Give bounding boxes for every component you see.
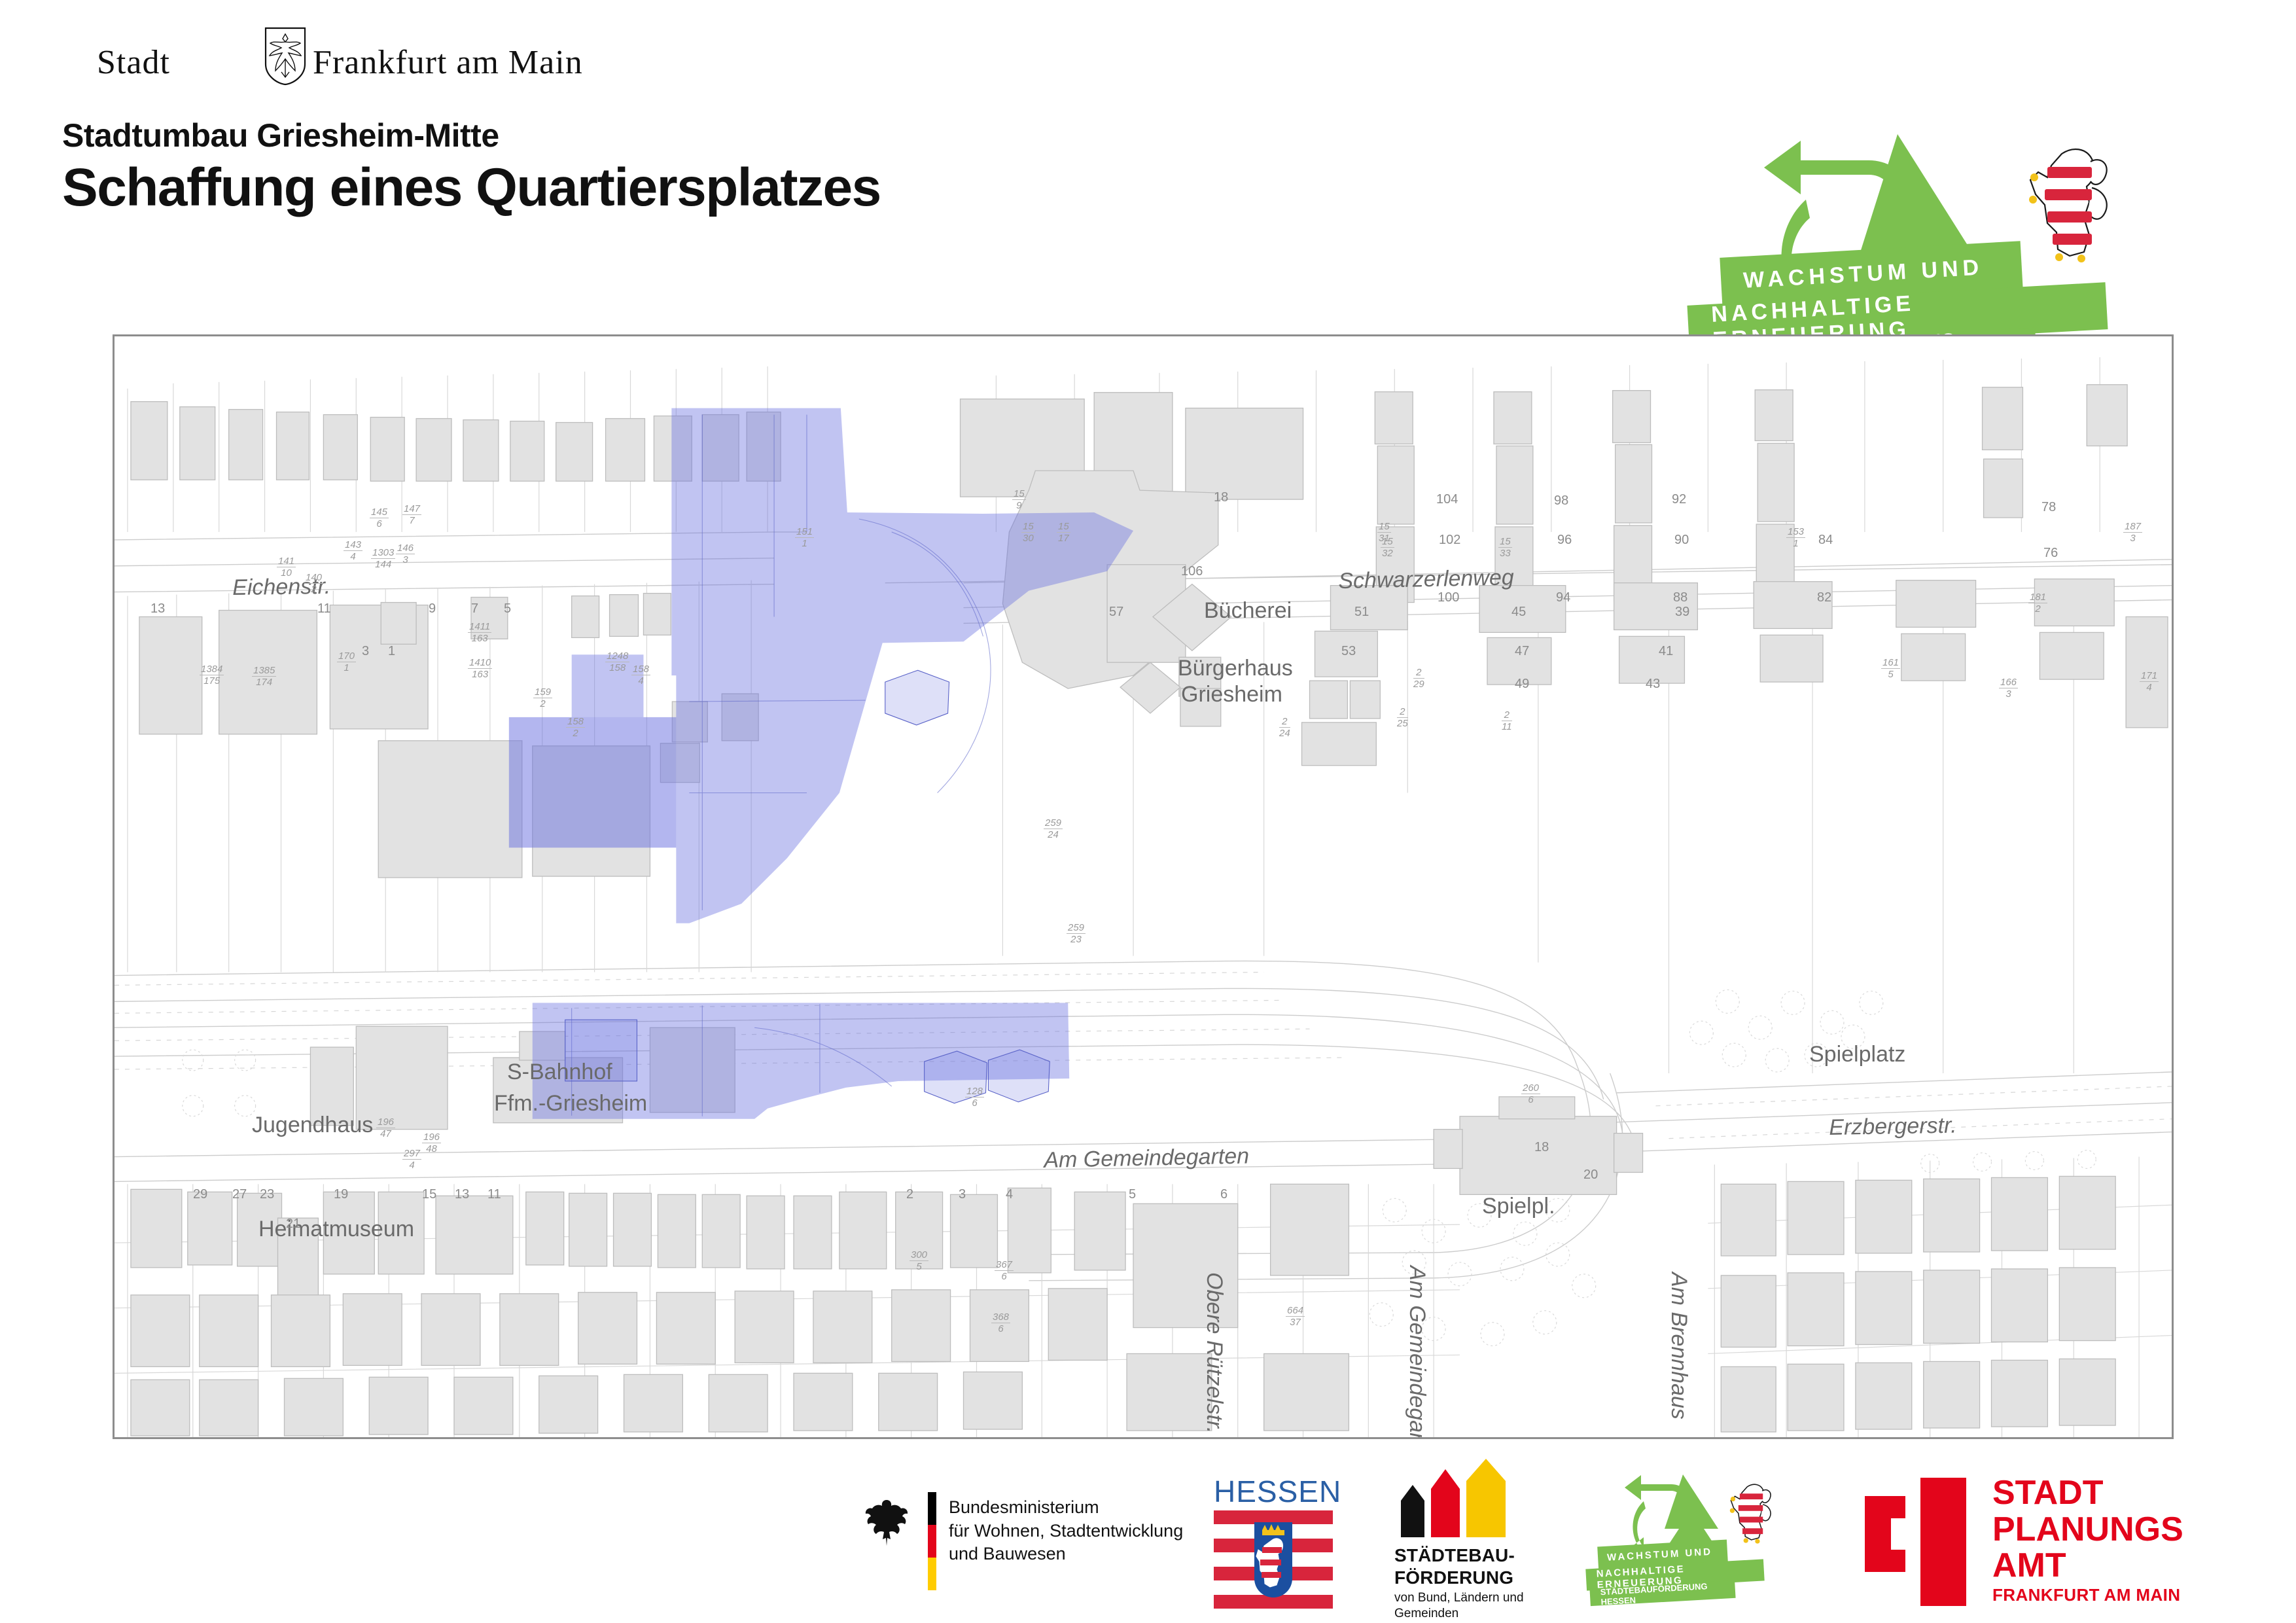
german-flag-bar bbox=[928, 1492, 936, 1590]
spa-line3: AMT bbox=[1992, 1548, 2183, 1584]
hessen-wordmark: HESSEN bbox=[1214, 1474, 1341, 1509]
page-header: Stadt Frankfurt am Main Stadtumbau Gries… bbox=[0, 0, 2296, 327]
hessen-lion-icon bbox=[2019, 139, 2117, 277]
stbf-line2: FÖRDERUNG bbox=[1394, 1567, 1515, 1589]
bmwsb-text: Bundesministerium für Wohnen, Stadtentwi… bbox=[949, 1496, 1183, 1566]
map-graphic bbox=[115, 336, 2172, 1437]
page-title: Schaffung eines Quartiersplatzes bbox=[62, 157, 881, 219]
stadtplanungsamt-title: STADT PLANUNGS AMT bbox=[1992, 1475, 2183, 1584]
program-logo-footer: WACHSTUM UND NACHHALTIGE ERNEUERUNG STÄD… bbox=[1597, 1466, 1858, 1623]
city-logo-right-text: Frankfurt am Main bbox=[313, 43, 583, 82]
spa-line1: STADT bbox=[1992, 1475, 2183, 1512]
staedtebaufoerderung-subtext: von Bund, Ländern und Gemeinden bbox=[1394, 1590, 1524, 1622]
bmwsb-logo: Bundesministerium für Wohnen, Stadtentwi… bbox=[864, 1466, 1230, 1623]
bmwsb-line3: und Bauwesen bbox=[949, 1543, 1183, 1566]
stbf-line1: STÄDTEBAU- bbox=[1394, 1544, 1515, 1567]
page-subtitle: Stadtumbau Griesheim-Mitte bbox=[62, 116, 499, 154]
hessen-logo: HESSEN bbox=[1207, 1466, 1351, 1623]
cadastral-map[interactable]: Eichenstr.SchwarzerlenwegAm Gemeindegart… bbox=[113, 334, 2174, 1439]
bmwsb-line1: Bundesministerium bbox=[949, 1496, 1183, 1520]
stadtplanungsamt-subtitle: FRANKFURT AM MAIN bbox=[1992, 1585, 2180, 1605]
city-logo-left-text: Stadt bbox=[97, 43, 170, 82]
city-of-frankfurt-logo: Stadt Frankfurt am Main bbox=[97, 31, 516, 90]
page-footer: Bundesministerium für Wohnen, Stadtentwi… bbox=[0, 1466, 2296, 1623]
hessen-lion-icon-footer bbox=[1725, 1479, 1776, 1551]
frankfurt-eagle-shield-icon bbox=[264, 26, 307, 86]
staedtebaufoerderung-logo: STÄDTEBAU- FÖRDERUNG von Bund, Ländern u… bbox=[1390, 1466, 1606, 1623]
stadtplanungsamt-mark-icon bbox=[1865, 1478, 1966, 1606]
spa-line2: PLANUNGS bbox=[1992, 1512, 2183, 1548]
hessen-coat-of-arms-icon bbox=[1214, 1510, 1333, 1609]
staedtebaufoerderung-text: STÄDTEBAU- FÖRDERUNG bbox=[1394, 1544, 1515, 1588]
bmwsb-line2: für Wohnen, Stadtentwicklung bbox=[949, 1520, 1183, 1543]
bundesadler-icon bbox=[864, 1497, 910, 1548]
stbf-sub2: Gemeinden bbox=[1394, 1606, 1524, 1622]
stadtplanungsamt-logo: STADT PLANUNGS AMT FRANKFURT AM MAIN bbox=[1865, 1466, 2205, 1623]
stbf-sub1: von Bund, Ländern und bbox=[1394, 1590, 1524, 1606]
three-houses-icon bbox=[1394, 1459, 1510, 1541]
